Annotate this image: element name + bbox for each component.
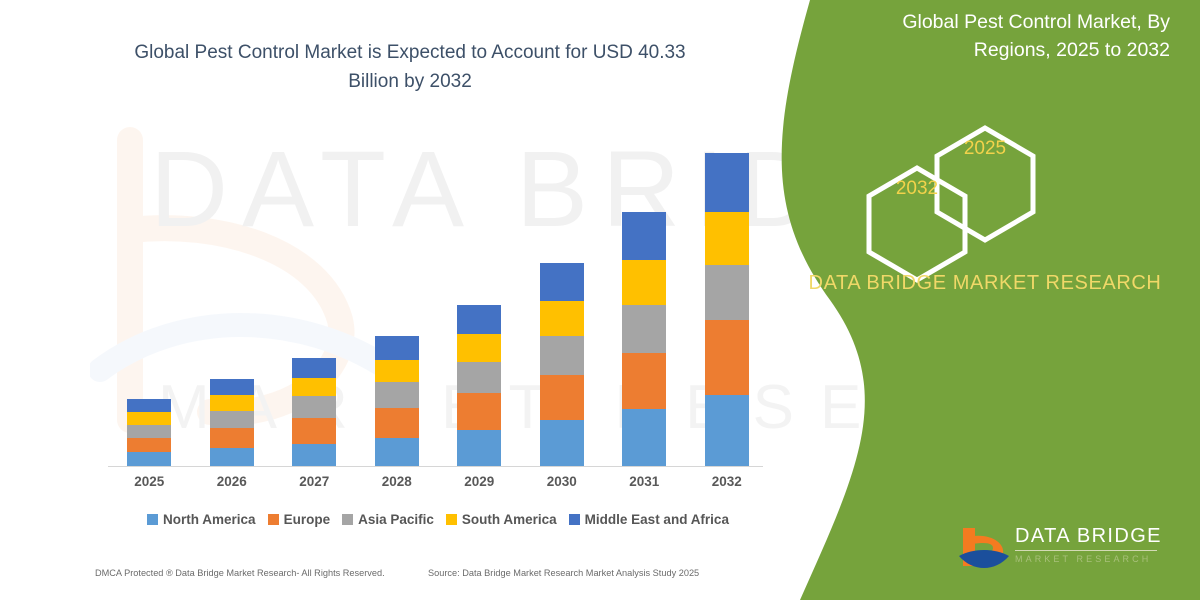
x-axis-label-2025: 2025	[108, 474, 191, 489]
bar-segment[interactable]	[457, 334, 501, 362]
stacked-bar[interactable]	[622, 212, 666, 466]
bar-segment[interactable]	[540, 336, 584, 375]
stacked-bar[interactable]	[375, 336, 419, 466]
chart-region: Global Pest Control Market is Expected t…	[0, 0, 800, 600]
legend-item[interactable]: North America	[147, 512, 256, 527]
legend-item[interactable]: Europe	[268, 512, 331, 527]
bar-segment[interactable]	[622, 260, 666, 305]
x-axis-label-2032: 2032	[686, 474, 769, 489]
bar-group	[108, 140, 768, 466]
bar-segment[interactable]	[622, 409, 666, 466]
bar-segment[interactable]	[457, 430, 501, 466]
legend-item[interactable]: South America	[446, 512, 557, 527]
bar-segment[interactable]	[210, 448, 254, 466]
bar-segment[interactable]	[705, 212, 749, 265]
stacked-bar[interactable]	[127, 399, 171, 466]
bar-segment[interactable]	[127, 452, 171, 466]
logo-mark-icon	[955, 522, 1013, 580]
company-logo: DATA BRIDGE MARKET RESEARCH	[955, 520, 1175, 582]
logo-divider	[1015, 550, 1157, 551]
x-axis-label-2026: 2026	[191, 474, 274, 489]
legend-label: South America	[462, 512, 557, 527]
x-axis-label-2028: 2028	[356, 474, 439, 489]
bar-column-2031[interactable]	[603, 140, 686, 466]
stacked-bar[interactable]	[210, 379, 254, 466]
bar-column-2026[interactable]	[191, 140, 274, 466]
bar-segment[interactable]	[375, 336, 419, 359]
footer: DMCA Protected ® Data Bridge Market Rese…	[0, 566, 790, 592]
right-green-panel: Global Pest Control Market, By Regions, …	[770, 0, 1200, 600]
bar-segment[interactable]	[705, 395, 749, 466]
bar-segment[interactable]	[292, 358, 336, 377]
bar-segment[interactable]	[127, 399, 171, 412]
stacked-bar[interactable]	[705, 153, 749, 466]
bar-segment[interactable]	[210, 411, 254, 428]
hexagon-2032-label: 2032	[862, 178, 972, 200]
legend-swatch-icon	[147, 514, 158, 525]
bar-segment[interactable]	[292, 378, 336, 397]
bar-segment[interactable]	[705, 320, 749, 395]
stacked-bar[interactable]	[292, 358, 336, 466]
legend-swatch-icon	[268, 514, 279, 525]
bar-column-2027[interactable]	[273, 140, 356, 466]
legend-label: Europe	[284, 512, 331, 527]
x-axis-label-2029: 2029	[438, 474, 521, 489]
source-text: Source: Data Bridge Market Research Mark…	[428, 568, 699, 578]
bar-segment[interactable]	[375, 438, 419, 466]
bar-segment[interactable]	[622, 212, 666, 259]
bar-segment[interactable]	[540, 301, 584, 337]
x-axis-label-2030: 2030	[521, 474, 604, 489]
bar-segment[interactable]	[210, 395, 254, 411]
bar-segment[interactable]	[292, 418, 336, 444]
bar-column-2032[interactable]	[686, 140, 769, 466]
bar-segment[interactable]	[292, 444, 336, 467]
bar-segment[interactable]	[540, 263, 584, 300]
logo-tagline: MARKET RESEARCH	[1015, 554, 1162, 564]
page-title: Global Pest Control Market is Expected t…	[110, 38, 710, 97]
x-axis-line	[108, 466, 763, 467]
legend-label: Asia Pacific	[358, 512, 434, 527]
bar-column-2025[interactable]	[108, 140, 191, 466]
logo-text-block: DATA BRIDGE MARKET RESEARCH	[1015, 526, 1162, 564]
bar-segment[interactable]	[705, 265, 749, 320]
bar-segment[interactable]	[127, 438, 171, 452]
x-axis-labels: 20252026202720282029203020312032	[108, 474, 768, 489]
bar-segment[interactable]	[622, 305, 666, 354]
legend-label: Middle East and Africa	[585, 512, 729, 527]
bar-segment[interactable]	[127, 425, 171, 438]
bar-segment[interactable]	[457, 305, 501, 334]
logo-name: DATA BRIDGE	[1015, 526, 1162, 546]
hexagon-outlines	[770, 0, 1200, 600]
stacked-bar[interactable]	[457, 305, 501, 466]
legend-swatch-icon	[569, 514, 580, 525]
bar-column-2029[interactable]	[438, 140, 521, 466]
bar-segment[interactable]	[127, 412, 171, 424]
legend-swatch-icon	[342, 514, 353, 525]
hexagon-2025-label: 2025	[930, 138, 1040, 160]
copyright-text: DMCA Protected ® Data Bridge Market Rese…	[95, 568, 385, 578]
legend-label: North America	[163, 512, 256, 527]
x-axis-label-2031: 2031	[603, 474, 686, 489]
x-axis-label-2027: 2027	[273, 474, 356, 489]
stacked-bar[interactable]	[540, 263, 584, 466]
legend-item[interactable]: Asia Pacific	[342, 512, 434, 527]
bar-segment[interactable]	[540, 420, 584, 466]
bar-segment[interactable]	[375, 360, 419, 383]
bar-segment[interactable]	[705, 153, 749, 212]
bar-segment[interactable]	[210, 379, 254, 395]
bar-segment[interactable]	[457, 393, 501, 430]
panel-brand-text: DATA BRIDGE MARKET RESEARCH	[800, 268, 1170, 298]
infographic-canvas: DATA BRIDGE MARKET RESEARCH Global Pest …	[0, 0, 1200, 600]
bar-column-2030[interactable]	[521, 140, 604, 466]
bar-column-2028[interactable]	[356, 140, 439, 466]
bar-segment[interactable]	[457, 362, 501, 393]
chart-legend: North AmericaEuropeAsia PacificSouth Ame…	[108, 512, 768, 527]
bar-segment[interactable]	[375, 382, 419, 408]
bar-segment[interactable]	[540, 375, 584, 420]
legend-item[interactable]: Middle East and Africa	[569, 512, 729, 527]
legend-swatch-icon	[446, 514, 457, 525]
bar-segment[interactable]	[210, 428, 254, 448]
hexagon-group: 2025 2032	[770, 0, 1200, 600]
bar-segment[interactable]	[375, 408, 419, 438]
bar-segment[interactable]	[292, 396, 336, 418]
bar-segment[interactable]	[622, 353, 666, 408]
